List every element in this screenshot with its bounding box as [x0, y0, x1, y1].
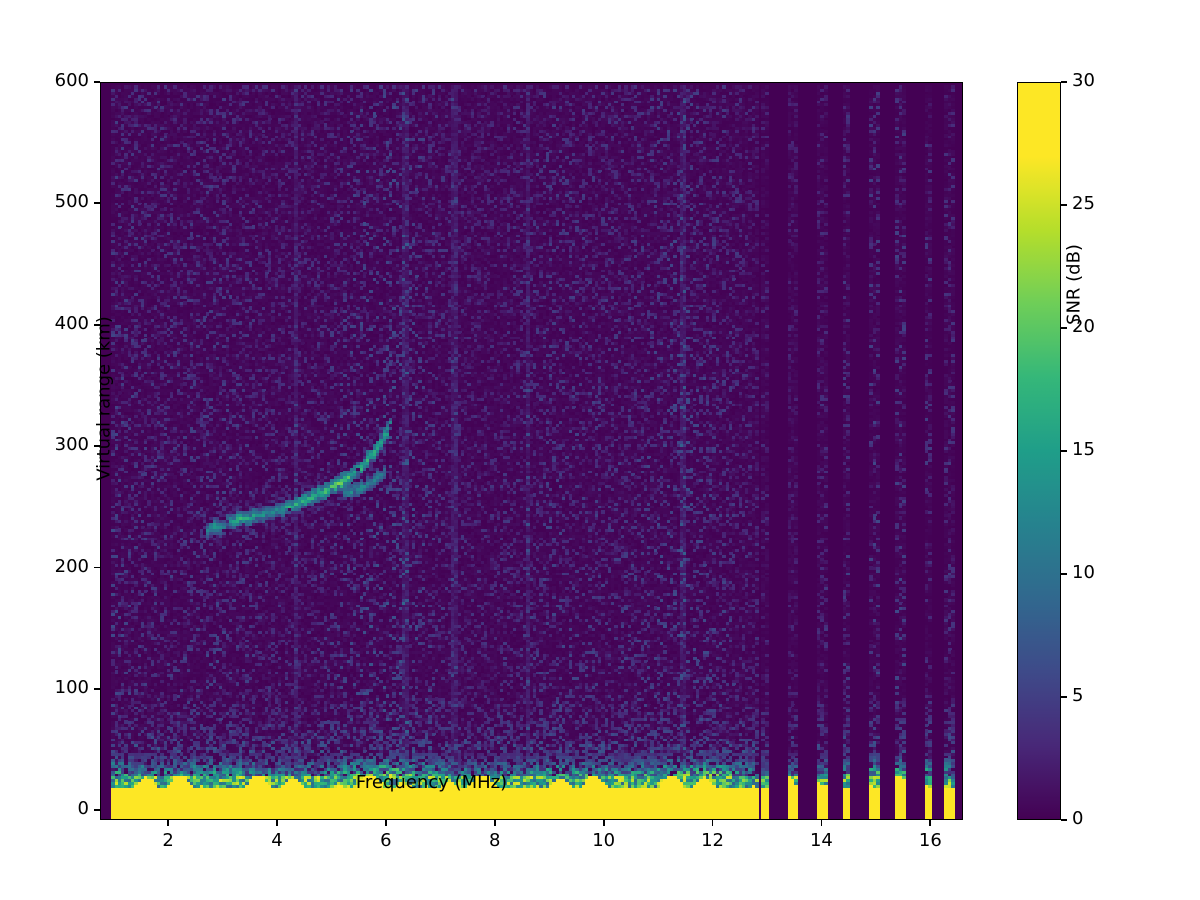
colorbar-tick-mark — [1061, 450, 1067, 452]
x-tick-label: 16 — [919, 830, 942, 851]
ionogram-heatmap — [101, 83, 963, 820]
x-tick-label: 8 — [489, 830, 500, 851]
x-tick-label: 4 — [271, 830, 282, 851]
x-tick-mark — [929, 820, 931, 826]
colorbar-tick-mark — [1061, 819, 1067, 821]
x-tick-label: 2 — [162, 830, 173, 851]
ionogram-figure: IRF Kiruna Ionosonde KI167 2025-09-22 06… — [0, 0, 1200, 900]
colorbar-tick-mark — [1061, 573, 1067, 575]
x-axis-label: Frequency (MHz) — [0, 772, 863, 793]
y-tick-label: 100 — [55, 677, 89, 698]
y-axis-label: Virtual range (km) — [94, 269, 115, 529]
x-tick-mark — [167, 820, 169, 826]
x-tick-mark — [494, 820, 496, 826]
y-tick-label: 300 — [55, 434, 89, 455]
x-tick-mark — [821, 820, 823, 826]
y-tick-label: 500 — [55, 191, 89, 212]
x-tick-label: 12 — [701, 830, 724, 851]
colorbar-tick-label: 5 — [1072, 685, 1083, 706]
colorbar-tick-label: 30 — [1072, 70, 1095, 91]
y-tick-mark — [94, 809, 100, 811]
colorbar-label: SNR (dB) — [1064, 185, 1085, 385]
y-tick-mark — [94, 81, 100, 83]
y-tick-label: 600 — [55, 70, 89, 91]
y-tick-mark — [94, 567, 100, 569]
y-tick-mark — [94, 688, 100, 690]
y-tick-label: 400 — [55, 313, 89, 334]
colorbar-tick-label: 15 — [1072, 439, 1095, 460]
x-tick-mark — [712, 820, 714, 826]
y-tick-label: 200 — [55, 556, 89, 577]
colorbar-gradient — [1018, 83, 1060, 819]
colorbar — [1017, 82, 1061, 820]
y-tick-label: 0 — [78, 798, 89, 819]
colorbar-tick-mark — [1061, 696, 1067, 698]
ionogram-plot-area — [100, 82, 963, 820]
x-tick-label: 6 — [380, 830, 391, 851]
colorbar-tick-mark — [1061, 81, 1067, 83]
y-tick-mark — [94, 202, 100, 204]
x-tick-mark — [385, 820, 387, 826]
x-tick-mark — [603, 820, 605, 826]
x-tick-label: 14 — [810, 830, 833, 851]
colorbar-tick-label: 0 — [1072, 808, 1083, 829]
x-tick-label: 10 — [592, 830, 615, 851]
x-tick-mark — [276, 820, 278, 826]
colorbar-tick-label: 10 — [1072, 562, 1095, 583]
